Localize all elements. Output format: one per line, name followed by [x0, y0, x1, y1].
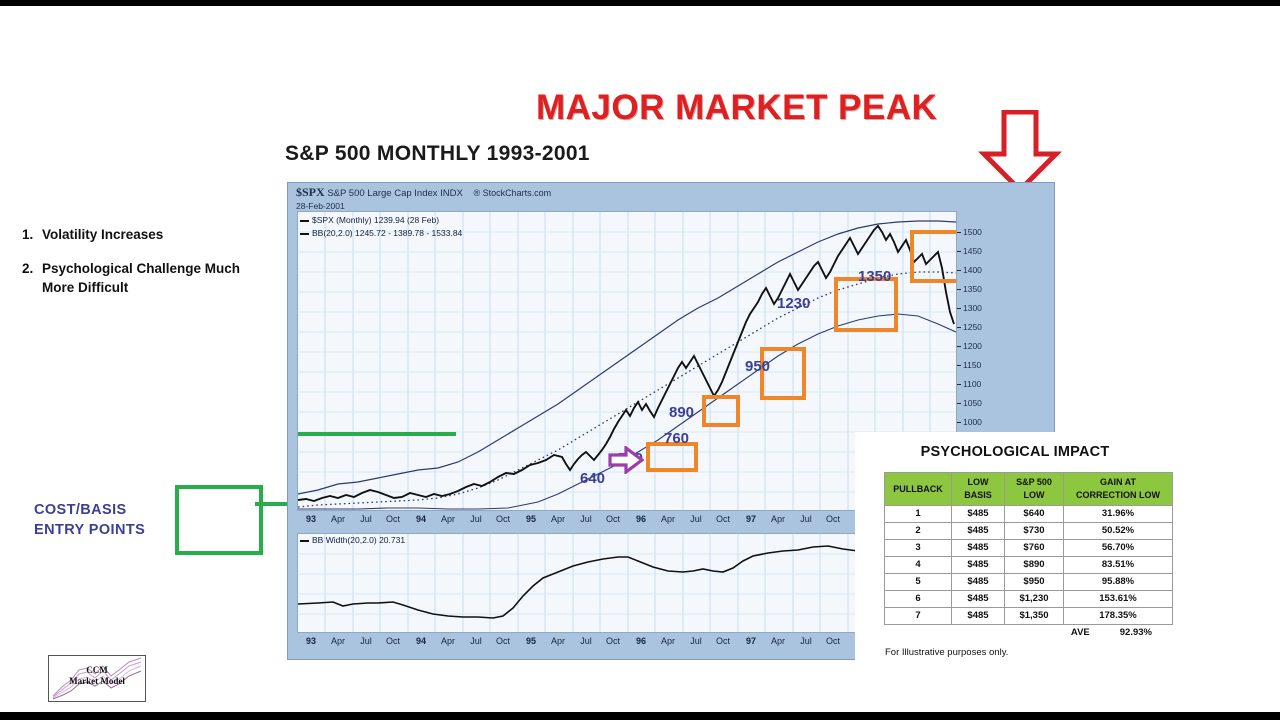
- x-tick: 93: [306, 636, 316, 646]
- x-tick: Oct: [386, 636, 400, 646]
- cell-low-basis: $485: [952, 506, 1005, 523]
- x-tick: 95: [526, 514, 536, 524]
- cell-gain: 50.52%: [1064, 523, 1173, 540]
- chart-date: 28-Feb-2001: [296, 201, 1054, 211]
- x-tick: Jul: [800, 636, 812, 646]
- list-item-label: Volatility Increases: [42, 225, 272, 245]
- y-tick: 1450: [957, 246, 982, 256]
- x-tick: Oct: [606, 514, 620, 524]
- table-row: 2 $485 $730 50.52%: [885, 523, 1173, 540]
- pullback-label-640: 640: [580, 470, 605, 487]
- chart-index-name: S&P 500 Large Cap Index INDX: [327, 188, 463, 199]
- cell-low-basis: $485: [952, 608, 1005, 625]
- x-tick: 97: [746, 514, 756, 524]
- pullback-box-890: [702, 395, 740, 427]
- x-tick: Jul: [690, 514, 702, 524]
- ccm-market-model-logo: CCM Market Model: [48, 655, 146, 702]
- x-tick: 95: [526, 636, 536, 646]
- pullback-box-1350: [910, 230, 957, 283]
- letterbox-top: [0, 0, 1280, 6]
- logo-line1: CCM: [49, 665, 145, 676]
- cell-low-basis: $485: [952, 523, 1005, 540]
- cell-gain: 178.35%: [1064, 608, 1173, 625]
- list-item-label: Psychological Challenge Much More Diffic…: [42, 259, 272, 298]
- cell-spx-low: $640: [1005, 506, 1064, 523]
- cell-low-basis: $485: [952, 557, 1005, 574]
- x-tick: Oct: [826, 514, 840, 524]
- pullback-label-760: 760: [664, 430, 689, 447]
- average-value: 92.93%: [1120, 627, 1152, 638]
- x-tick: Apr: [551, 514, 565, 524]
- x-tick: 94: [416, 636, 426, 646]
- x-tick: Apr: [661, 636, 675, 646]
- x-tick: Oct: [496, 514, 510, 524]
- list-item-number: 2.: [22, 259, 42, 298]
- disclaimer-note: For Illustrative purposes only.: [885, 647, 1008, 658]
- x-tick: Jul: [360, 636, 372, 646]
- x-tick: Oct: [716, 514, 730, 524]
- cell-spx-low: $760: [1005, 540, 1064, 557]
- x-tick: Jul: [360, 514, 372, 524]
- table-header-row: PULLBACK LOW BASIS S&P 500 LOW GAIN AT C…: [885, 473, 1173, 506]
- table-row: 6 $485 $1,230 153.61%: [885, 591, 1173, 608]
- x-tick: 96: [636, 514, 646, 524]
- list-item-number: 1.: [22, 225, 42, 245]
- bb-width-legend: BB Width(20,2.0) 20.731: [300, 535, 405, 545]
- purple-right-arrow-icon: [608, 446, 644, 479]
- cell-pullback: 5: [885, 574, 952, 591]
- x-tick: Oct: [606, 636, 620, 646]
- table-row: 4 $485 $890 83.51%: [885, 557, 1173, 574]
- chart-header: $SPX S&P 500 Large Cap Index INDX ® Stoc…: [288, 183, 1054, 211]
- cell-gain: 95.88%: [1064, 574, 1173, 591]
- cell-spx-low: $890: [1005, 557, 1064, 574]
- cost-basis-line1: COST/BASIS: [34, 500, 145, 520]
- x-tick: Apr: [331, 514, 345, 524]
- y-tick: 1100: [957, 379, 981, 389]
- x-tick: Apr: [441, 636, 455, 646]
- average-label: AVE: [1071, 627, 1090, 638]
- y-tick: 1050: [957, 398, 982, 408]
- psychological-impact-title: PSYCHOLOGICAL IMPACT: [855, 444, 1175, 460]
- column-header-low-basis: LOW BASIS: [952, 473, 1005, 506]
- cell-gain: 56.70%: [1064, 540, 1173, 557]
- x-tick: Apr: [441, 514, 455, 524]
- chart-source: ® StockCharts.com: [474, 188, 552, 198]
- pullback-label-1230: 1230: [777, 295, 810, 312]
- table-row: 7 $485 $1,350 178.35%: [885, 608, 1173, 625]
- x-tick: Apr: [661, 514, 675, 524]
- y-tick: 1400: [957, 265, 982, 275]
- cell-gain: 31.96%: [1064, 506, 1173, 523]
- major-market-peak-headline: MAJOR MARKET PEAK: [536, 88, 937, 128]
- cell-pullback: 4: [885, 557, 952, 574]
- x-tick: Oct: [716, 636, 730, 646]
- letterbox-bottom: [0, 712, 1280, 720]
- list-item: 1. Volatility Increases: [22, 225, 272, 245]
- x-tick: 93: [306, 514, 316, 524]
- pullback-label-950: 950: [745, 358, 770, 375]
- y-tick: 1350: [957, 284, 982, 294]
- table-row: 5 $485 $950 95.88%: [885, 574, 1173, 591]
- x-tick: Jul: [580, 636, 592, 646]
- average-row: AVE92.93%: [884, 627, 1158, 638]
- x-tick: 94: [416, 514, 426, 524]
- cell-gain: 83.51%: [1064, 557, 1173, 574]
- x-tick: Apr: [771, 636, 785, 646]
- column-header-pullback: PULLBACK: [885, 473, 952, 506]
- cell-pullback: 1: [885, 506, 952, 523]
- cell-spx-low: $730: [1005, 523, 1064, 540]
- x-tick: Jul: [470, 636, 482, 646]
- cell-pullback: 2: [885, 523, 952, 540]
- cell-gain: 153.61%: [1064, 591, 1173, 608]
- x-tick: 96: [636, 636, 646, 646]
- x-tick: Apr: [551, 636, 565, 646]
- x-tick: Oct: [386, 514, 400, 524]
- page-title: S&P 500 MONTHLY 1993-2001: [285, 142, 590, 166]
- x-tick: Jul: [800, 514, 812, 524]
- x-tick: Apr: [331, 636, 345, 646]
- cost-basis-line2: ENTRY POINTS: [34, 520, 145, 540]
- legend-price-line: $SPX (Monthly) 1239.94 (28 Feb): [300, 214, 462, 227]
- cell-pullback: 7: [885, 608, 952, 625]
- column-header-gain: GAIN AT CORRECTION LOW: [1064, 473, 1173, 506]
- x-tick: Jul: [470, 514, 482, 524]
- entry-points-price-line: [298, 432, 456, 436]
- legend-bb-line: BB(20,2.0) 1245.72 - 1389.78 - 1533.84: [300, 227, 462, 240]
- cell-low-basis: $485: [952, 591, 1005, 608]
- cell-spx-low: $950: [1005, 574, 1064, 591]
- column-header-spx-low: S&P 500 LOW: [1005, 473, 1064, 506]
- cell-low-basis: $485: [952, 574, 1005, 591]
- y-tick: 1150: [957, 360, 981, 370]
- cell-spx-low: $1,350: [1005, 608, 1064, 625]
- table-row: 3 $485 $760 56.70%: [885, 540, 1173, 557]
- y-tick: 1000: [957, 417, 982, 427]
- cell-spx-low: $1,230: [1005, 591, 1064, 608]
- y-tick: 1250: [957, 322, 982, 332]
- y-tick: 1500: [957, 227, 982, 237]
- price-legend: $SPX (Monthly) 1239.94 (28 Feb) BB(20,2.…: [300, 214, 462, 240]
- x-tick: Oct: [496, 636, 510, 646]
- x-tick: Oct: [826, 636, 840, 646]
- key-points-list: 1. Volatility Increases 2. Psychological…: [22, 225, 272, 312]
- x-tick: 97: [746, 636, 756, 646]
- list-item: 2. Psychological Challenge Much More Dif…: [22, 259, 272, 298]
- pullback-label-1350: 1350: [858, 268, 891, 285]
- logo-text: CCM Market Model: [49, 665, 145, 688]
- cell-pullback: 3: [885, 540, 952, 557]
- psychological-impact-panel: PSYCHOLOGICAL IMPACT PULLBACK LOW BASIS …: [855, 432, 1175, 672]
- psychological-impact-table: PULLBACK LOW BASIS S&P 500 LOW GAIN AT C…: [884, 472, 1173, 625]
- logo-line2: Market Model: [49, 676, 145, 687]
- chart-symbol: $SPX: [296, 185, 325, 199]
- x-tick: Jul: [580, 514, 592, 524]
- table-row: 1 $485 $640 31.96%: [885, 506, 1173, 523]
- x-tick: Apr: [771, 514, 785, 524]
- y-tick: 1300: [957, 303, 982, 313]
- x-tick: Jul: [690, 636, 702, 646]
- pullback-box-1230: [834, 277, 898, 332]
- cell-pullback: 6: [885, 591, 952, 608]
- entry-points-box: [175, 485, 263, 555]
- cost-basis-label: COST/BASIS ENTRY POINTS: [34, 500, 145, 541]
- cell-low-basis: $485: [952, 540, 1005, 557]
- y-tick: 1200: [957, 341, 982, 351]
- pullback-label-890: 890: [669, 404, 694, 421]
